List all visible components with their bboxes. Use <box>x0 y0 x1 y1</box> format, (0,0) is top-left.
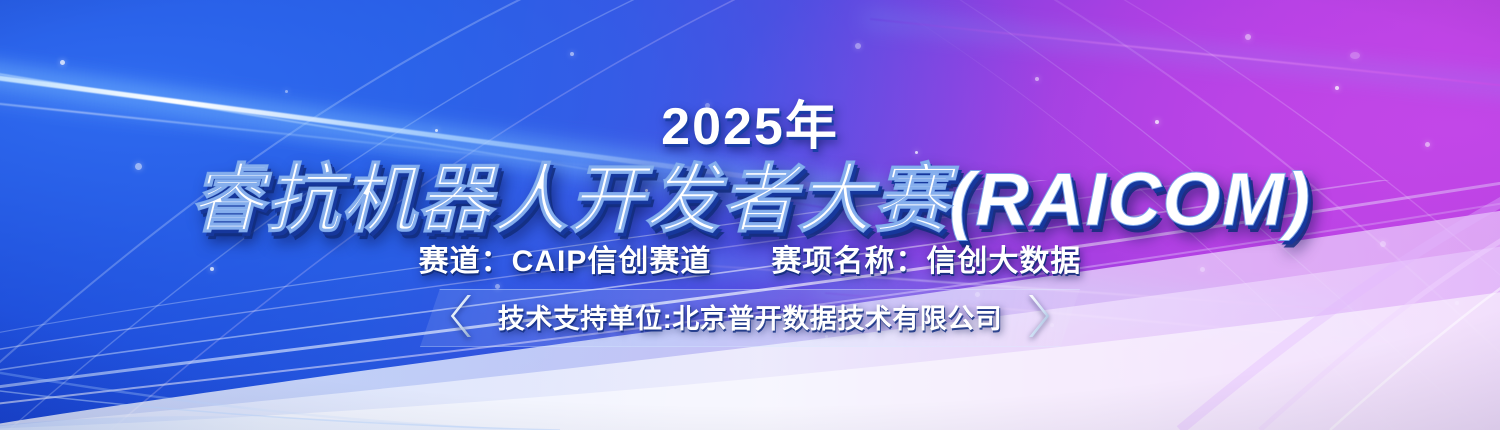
chevron-left-icon <box>450 293 476 339</box>
chevron-right-icon <box>1024 293 1050 339</box>
event-name-label: 赛项名称：信创大数据 <box>771 236 1081 280</box>
banner-content: 2025年 睿抗机器人开发者大赛(RAICOM) 赛道：CAIP信创赛道 赛项名… <box>0 0 1500 430</box>
support-text: 技术支持单位:北京普开数据技术有限公司 <box>498 297 1003 336</box>
subtitle-row: 赛道：CAIP信创赛道 赛项名称：信创大数据 <box>0 236 1500 280</box>
event-banner: 2025年 睿抗机器人开发者大赛(RAICOM) 赛道：CAIP信创赛道 赛项名… <box>0 0 1500 430</box>
main-title: 睿抗机器人开发者大赛(RAICOM) <box>0 138 1500 247</box>
support-bar: 技术支持单位:北京普开数据技术有限公司 <box>0 293 1500 339</box>
track-label: 赛道：CAIP信创赛道 <box>419 236 712 280</box>
